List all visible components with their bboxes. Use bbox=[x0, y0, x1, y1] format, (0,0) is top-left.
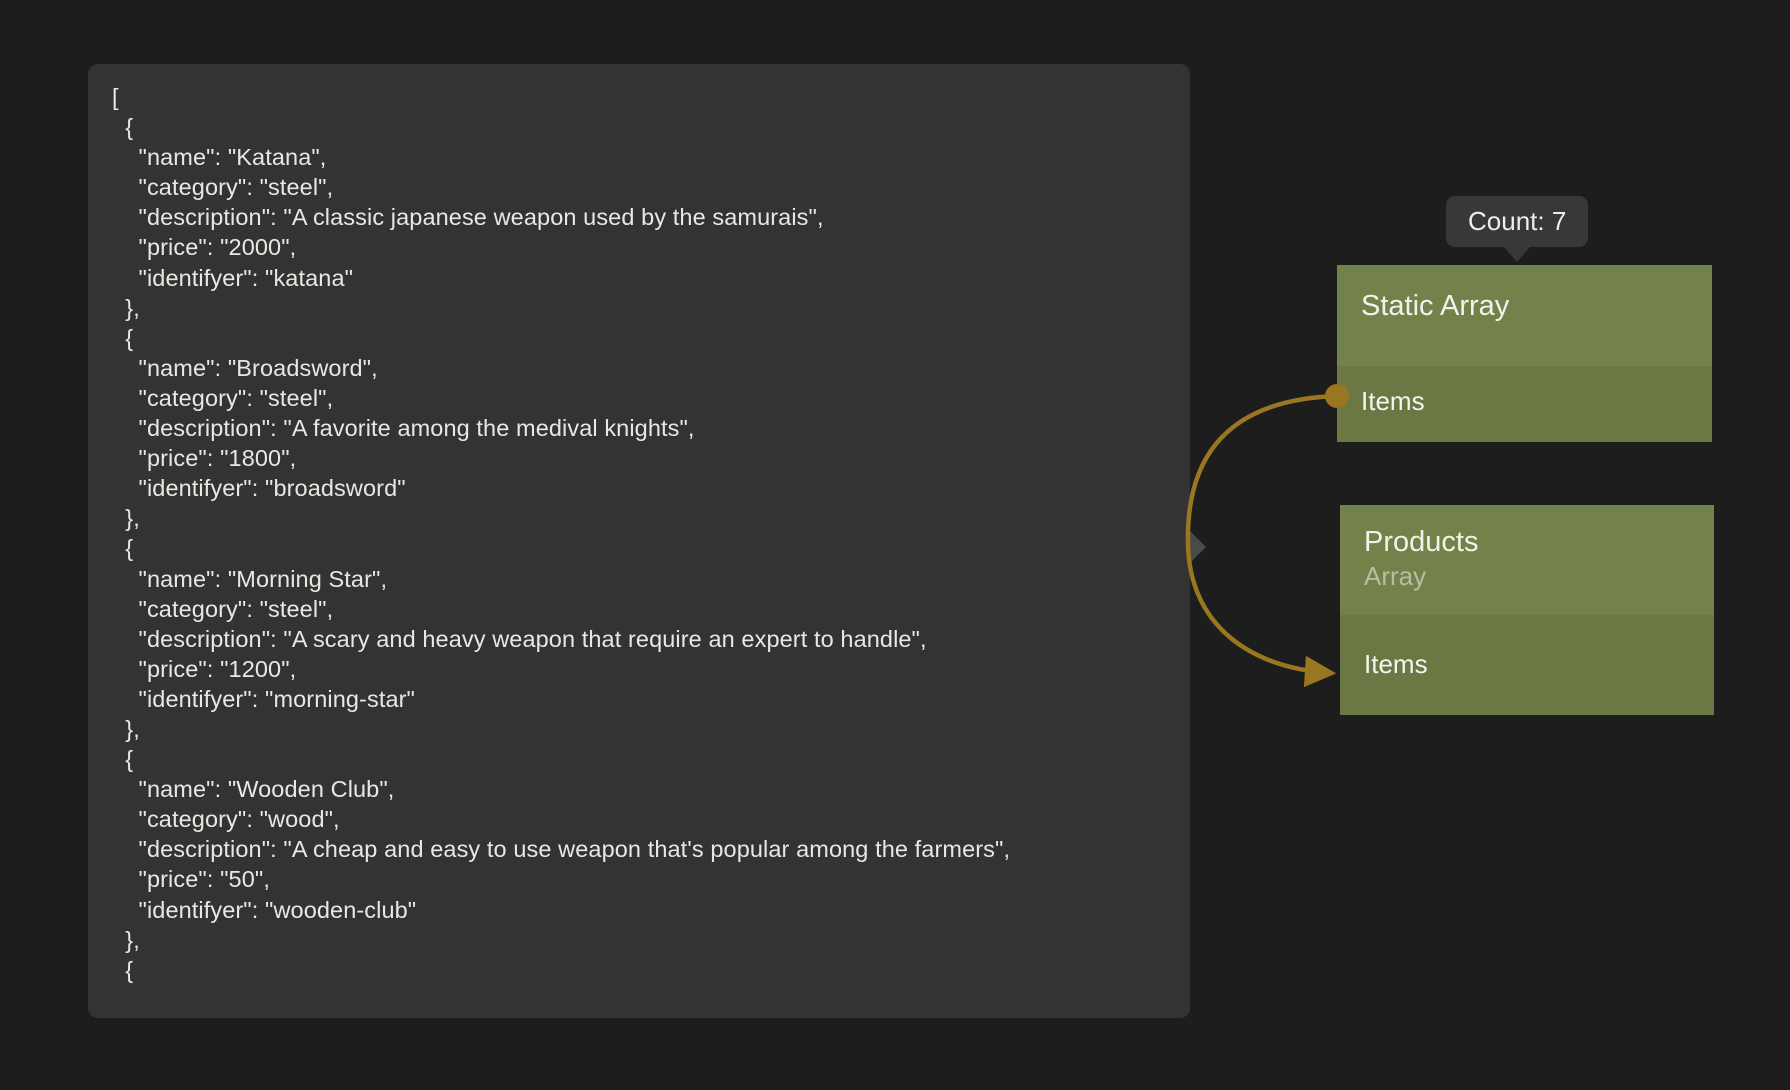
count-tooltip: Count: 7 bbox=[1446, 196, 1588, 247]
node-products-body: Items bbox=[1340, 615, 1714, 715]
node-static-array-row-label: Items bbox=[1361, 386, 1425, 416]
node-products-title: Products bbox=[1364, 525, 1690, 559]
node-static-array-title: Static Array bbox=[1361, 289, 1688, 323]
json-code-text: [ { "name": "Katana", "category": "steel… bbox=[112, 82, 1166, 1018]
count-tooltip-label: Count: 7 bbox=[1468, 206, 1566, 236]
node-static-array[interactable]: Static Array Items bbox=[1337, 265, 1712, 442]
node-products[interactable]: Products Array Items bbox=[1340, 505, 1714, 715]
code-panel-output-port-icon bbox=[1190, 531, 1206, 563]
node-products-row-items[interactable]: Items bbox=[1340, 635, 1714, 694]
json-code-panel[interactable]: [ { "name": "Katana", "category": "steel… bbox=[88, 64, 1190, 1018]
node-static-array-header[interactable]: Static Array bbox=[1337, 265, 1712, 366]
tooltip-pointer-icon bbox=[1504, 247, 1530, 262]
node-static-array-row-items[interactable]: Items bbox=[1337, 372, 1712, 431]
static-array-items-port-icon[interactable] bbox=[1325, 384, 1349, 408]
node-static-array-body: Items bbox=[1337, 366, 1712, 442]
node-products-header[interactable]: Products Array bbox=[1340, 505, 1714, 615]
node-products-row-label: Items bbox=[1364, 649, 1428, 679]
node-products-subtitle: Array bbox=[1364, 561, 1690, 592]
